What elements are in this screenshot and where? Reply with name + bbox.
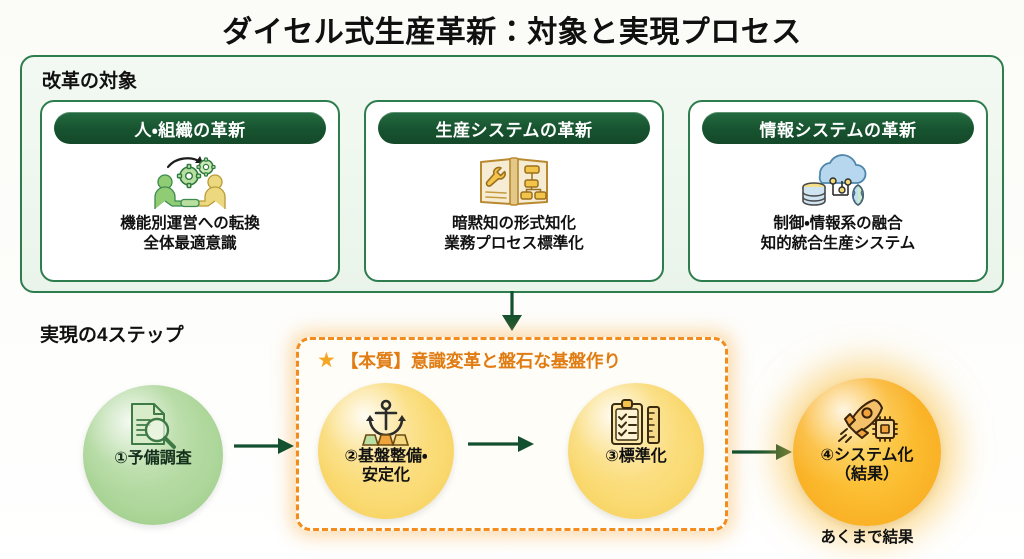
target-card-text: 制御・情報系の融合 知的統合生産システム xyxy=(761,214,916,254)
step-label-line-2: （結果） xyxy=(820,466,913,485)
step-label-line-1: ①予備調査 xyxy=(114,450,192,469)
essence-label-text: 【本質】意識変革と盤石な基盤作り xyxy=(341,348,621,373)
target-card-line-2: 業務プロセス標準化 xyxy=(444,234,584,254)
open-book-wrench-flowchart-icon xyxy=(477,150,551,212)
page-title: ダイセル式生産革新：対象と実現プロセス xyxy=(0,7,1024,51)
step-bubble-label: ③標準化 xyxy=(599,448,673,467)
step-bubble-label: ④システム化 （結果） xyxy=(814,447,919,484)
essence-label: ★ 【本質】意識変革と盤石な基盤作り xyxy=(317,348,621,373)
target-card-header: 情報システムの革新 xyxy=(702,112,974,144)
target-card-people-organization[interactable]: 人・組織の革新 xyxy=(40,100,340,282)
star-icon: ★ xyxy=(317,350,336,371)
document-magnifier-icon xyxy=(124,401,182,449)
handshake-gears-icon xyxy=(148,150,232,212)
step-arrow-1-to-2-icon xyxy=(234,434,296,463)
step-bubble-preliminary-survey[interactable]: ①予備調査 xyxy=(83,385,223,525)
steps-section-title: 実現の4ステップ xyxy=(40,320,184,347)
target-card-header: 生産システムの革新 xyxy=(378,112,650,144)
target-card-line-2: 全体最適意識 xyxy=(120,234,260,254)
target-card-text: 機能別運営への転換 全体最適意識 xyxy=(120,214,260,254)
rocket-chip-icon xyxy=(836,398,898,446)
step-bubble-standardization[interactable]: ③標準化 xyxy=(568,383,704,519)
step-label-line-1: ④システム化 xyxy=(820,447,913,466)
target-card-information-system[interactable]: 情報システムの革新 xyxy=(688,100,988,282)
target-card-line-1: 機能別運営への転換 xyxy=(120,214,260,234)
target-card-line-1: 暗黙知の形式知化 xyxy=(444,214,584,234)
target-cards-row: 人・組織の革新 xyxy=(40,100,988,282)
reform-targets-panel: 改革の対象 人・組織の革新 xyxy=(20,55,1004,293)
clipboard-checklist-ruler-icon xyxy=(608,399,664,447)
step-bubble-label: ②基盤整備・ 安定化 xyxy=(339,448,434,485)
step-bubble-label: ①予備調査 xyxy=(108,450,198,469)
step-label-line-1: ③標準化 xyxy=(605,448,667,467)
target-card-line-2: 知的統合生産システム xyxy=(761,234,916,254)
step-arrow-3-to-4-icon xyxy=(732,440,794,469)
anchor-gold-bars-icon xyxy=(357,399,415,447)
step-bubble-foundation-stabilization[interactable]: ②基盤整備・ 安定化 xyxy=(318,383,454,519)
step-label-line-2: 安定化 xyxy=(345,467,428,486)
result-caption: あくまで結果 xyxy=(793,525,941,547)
target-card-production-system[interactable]: 生産システムの革新 xyxy=(364,100,664,282)
target-card-header: 人・組織の革新 xyxy=(54,112,326,144)
step-arrow-2-to-3-icon xyxy=(468,432,536,461)
flow-down-arrow-icon xyxy=(497,291,527,333)
target-card-text: 暗黙知の形式知化 業務プロセス標準化 xyxy=(444,214,584,254)
target-card-line-1: 制御・情報系の融合 xyxy=(761,214,916,234)
targets-panel-title: 改革の対象 xyxy=(42,66,137,93)
step-bubble-systemization-result[interactable]: ④システム化 （結果） xyxy=(793,378,941,526)
cloud-database-brain-icon xyxy=(796,150,880,212)
step-label-line-1: ②基盤整備・ xyxy=(345,448,428,467)
